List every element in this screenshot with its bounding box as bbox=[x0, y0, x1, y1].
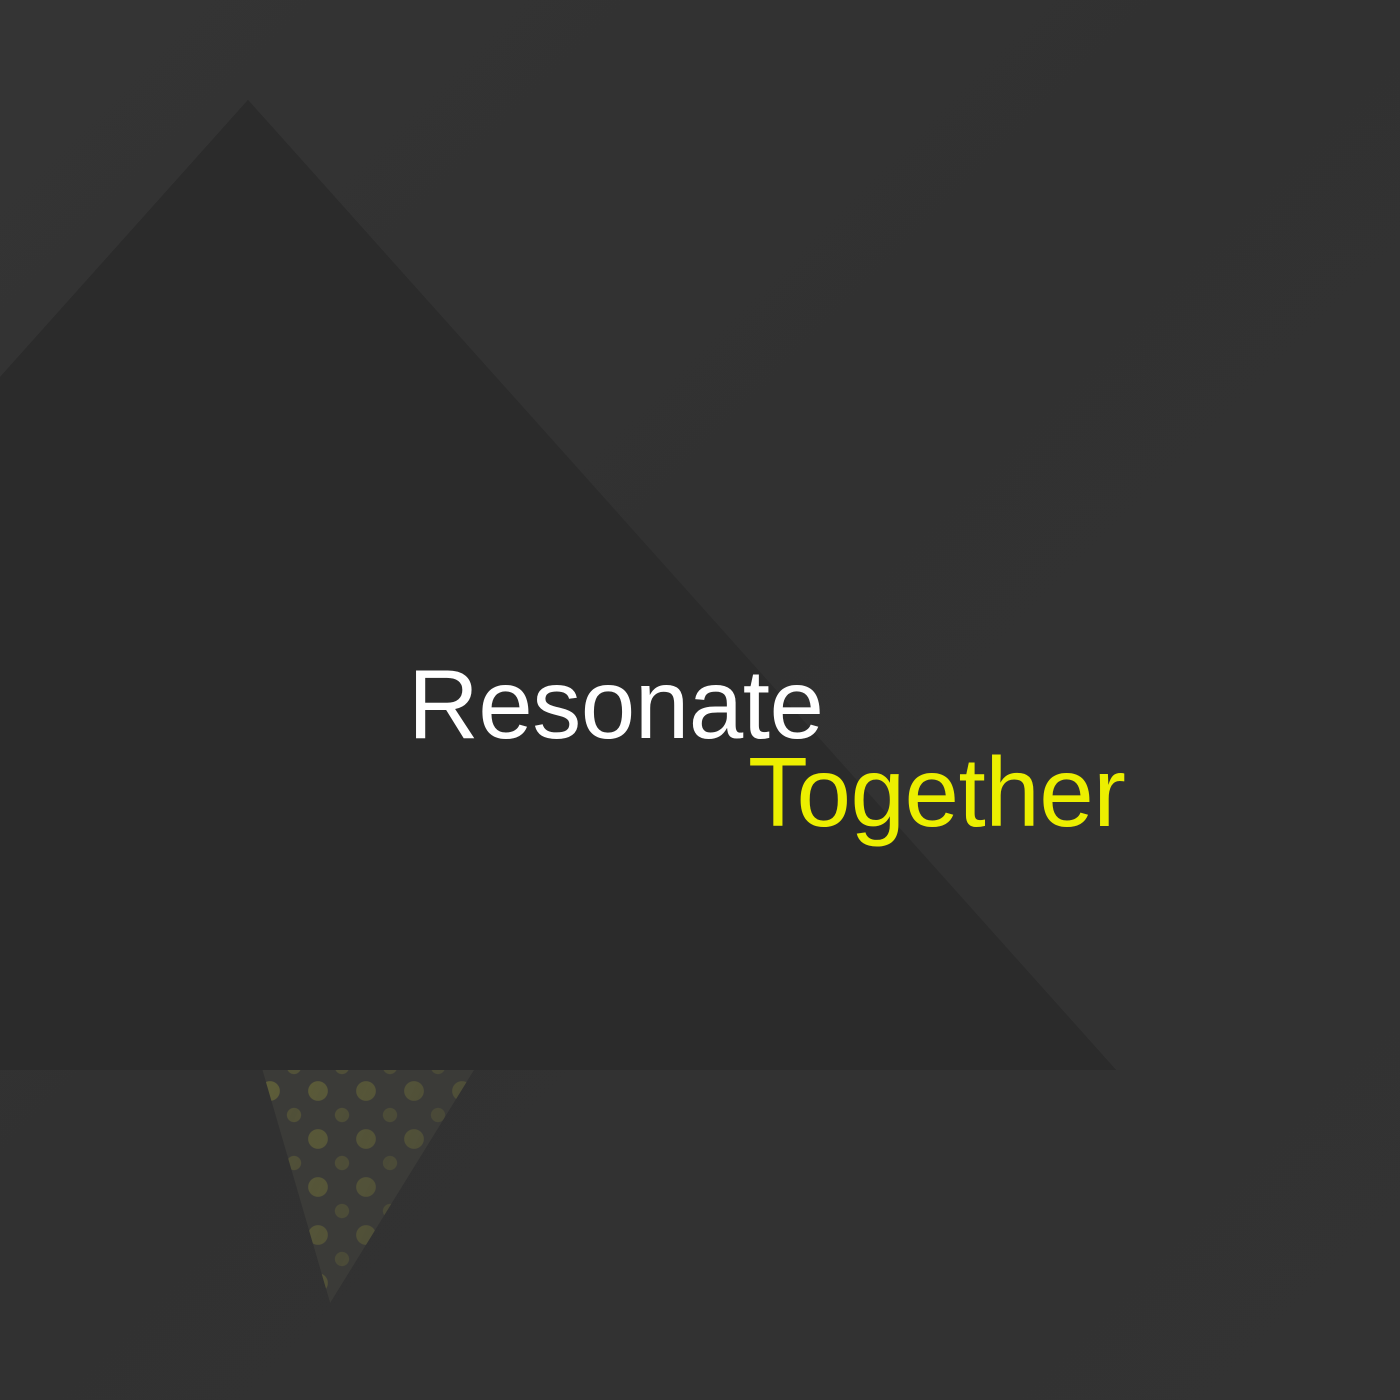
poster-canvas: Resonate Together bbox=[0, 0, 1400, 1400]
